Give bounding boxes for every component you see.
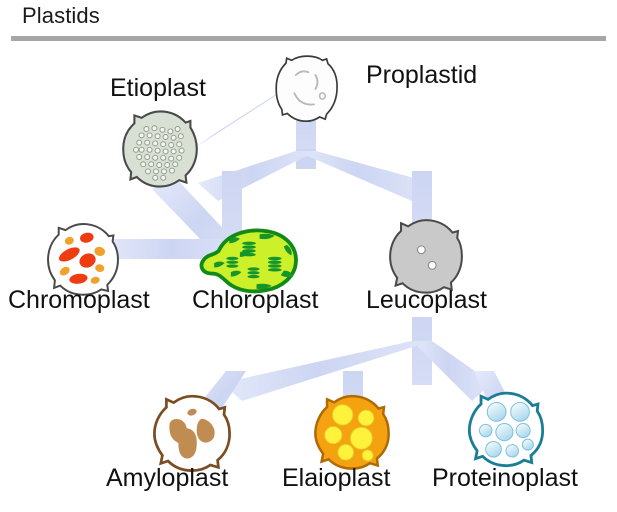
label-chromoplast: Chromoplast (8, 288, 150, 313)
diagram-canvas: Proplastid Etioplast Chromoplast Chlorop… (0, 41, 617, 512)
page-title: Plastids (22, 3, 100, 29)
label-layer: Proplastid Etioplast Chromoplast Chlorop… (0, 41, 617, 512)
label-proteinoplast: Proteinoplast (432, 466, 578, 491)
plastids-diagram-page: Plastids (0, 0, 617, 512)
label-leucoplast: Leucoplast (366, 288, 487, 313)
label-etioplast: Etioplast (110, 76, 206, 101)
label-chloroplast: Chloroplast (192, 288, 318, 313)
label-amyloplast: Amyloplast (106, 466, 228, 491)
label-elaioplast: Elaioplast (282, 466, 390, 491)
label-proplastid: Proplastid (366, 63, 477, 88)
